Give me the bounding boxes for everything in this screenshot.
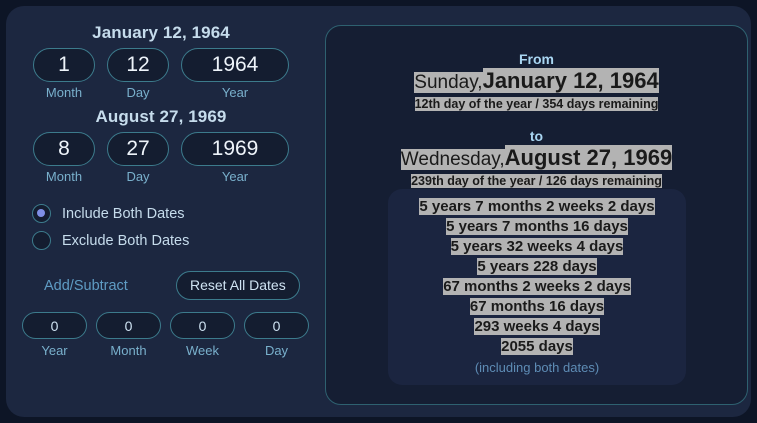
to-detail: 239th day of the year / 126 days remaini… (411, 174, 662, 188)
adjust-day-group: Day (244, 312, 309, 358)
input-column: January 12, 1964 Month Day Year August 2… (6, 22, 316, 412)
end-month-input[interactable] (33, 132, 95, 166)
result-row: 5 years 32 weeks 4 days (388, 239, 686, 255)
result-row: 5 years 7 months 2 weeks 2 days (388, 199, 686, 215)
from-detail-line: 12th day of the year / 354 days remainin… (326, 95, 747, 113)
start-year-label: Year (222, 85, 248, 100)
end-day-input[interactable] (107, 132, 169, 166)
start-month-label: Month (46, 85, 82, 100)
adjust-year-input[interactable] (22, 312, 87, 339)
result-text: 2055 days (501, 338, 573, 355)
end-month-group: Month (33, 132, 95, 184)
from-weekday: Sunday, (414, 72, 482, 93)
reset-all-dates-button[interactable]: Reset All Dates (176, 271, 300, 300)
result-row: 2055 days (388, 339, 686, 355)
radio-icon-include[interactable] (32, 204, 51, 223)
adjust-fields-row: Year Month Week Day (6, 312, 316, 358)
result-text: 5 years 7 months 2 weeks 2 days (419, 198, 654, 215)
from-date: January 12, 1964 (483, 68, 659, 93)
result-row: 67 months 16 days (388, 299, 686, 315)
result-text: 67 months 2 weeks 2 days (443, 278, 631, 295)
from-date-line: Sunday,January 12, 1964 (326, 68, 747, 94)
to-date-line: Wednesday,August 27, 1969 (326, 145, 747, 171)
to-label: to (326, 128, 747, 144)
main-card: January 12, 1964 Month Day Year August 2… (6, 6, 751, 417)
result-text: 5 years 7 months 16 days (446, 218, 628, 235)
end-date-heading: August 27, 1969 (6, 106, 316, 128)
end-date-fields: Month Day Year (6, 132, 316, 184)
result-row: 5 years 7 months 16 days (388, 219, 686, 235)
result-row: 5 years 228 days (388, 259, 686, 275)
end-year-input[interactable] (181, 132, 289, 166)
addsub-row: Add/Subtract Reset All Dates (6, 271, 316, 300)
result-row: 67 months 2 weeks 2 days (388, 279, 686, 295)
result-row: 293 weeks 4 days (388, 319, 686, 335)
start-day-input[interactable] (107, 48, 169, 82)
adjust-year-group: Year (22, 312, 87, 358)
start-year-group: Year (181, 48, 289, 100)
results-panel: From Sunday,January 12, 1964 12th day of… (325, 25, 748, 405)
start-date-heading: January 12, 1964 (6, 22, 316, 44)
from-detail: 12th day of the year / 354 days remainin… (415, 97, 659, 111)
addsub-label: Add/Subtract (44, 278, 176, 294)
start-year-input[interactable] (181, 48, 289, 82)
start-day-label: Day (126, 85, 149, 100)
start-month-input[interactable] (33, 48, 95, 82)
end-year-label: Year (222, 169, 248, 184)
adjust-day-label: Day (265, 343, 288, 358)
end-year-group: Year (181, 132, 289, 184)
result-text: 67 months 16 days (470, 298, 604, 315)
to-date: August 27, 1969 (505, 145, 673, 170)
to-weekday: Wednesday, (401, 149, 505, 170)
adjust-month-label: Month (110, 343, 146, 358)
adjust-day-input[interactable] (244, 312, 309, 339)
results-footnote: (including both dates) (388, 360, 686, 375)
start-month-group: Month (33, 48, 95, 100)
radio-icon-exclude[interactable] (32, 231, 51, 250)
adjust-month-group: Month (96, 312, 161, 358)
end-day-label: Day (126, 169, 149, 184)
result-text: 293 weeks 4 days (474, 318, 599, 335)
date-duration-calculator: January 12, 1964 Month Day Year August 2… (0, 0, 757, 423)
from-label: From (326, 51, 747, 67)
to-detail-line: 239th day of the year / 126 days remaini… (326, 172, 747, 190)
inclusion-radio-group: Include Both Dates Exclude Both Dates (6, 200, 316, 254)
radio-label-include: Include Both Dates (62, 206, 185, 222)
end-day-group: Day (107, 132, 169, 184)
adjust-week-input[interactable] (170, 312, 235, 339)
end-month-label: Month (46, 169, 82, 184)
start-day-group: Day (107, 48, 169, 100)
adjust-week-group: Week (170, 312, 235, 358)
radio-include-both-dates[interactable]: Include Both Dates (32, 200, 316, 227)
duration-results-box: 5 years 7 months 2 weeks 2 days 5 years … (388, 189, 686, 385)
start-date-fields: Month Day Year (6, 48, 316, 100)
adjust-year-label: Year (41, 343, 67, 358)
adjust-month-input[interactable] (96, 312, 161, 339)
radio-label-exclude: Exclude Both Dates (62, 233, 189, 249)
result-text: 5 years 32 weeks 4 days (451, 238, 624, 255)
radio-exclude-both-dates[interactable]: Exclude Both Dates (32, 227, 316, 254)
adjust-week-label: Week (186, 343, 219, 358)
result-text: 5 years 228 days (477, 258, 596, 275)
